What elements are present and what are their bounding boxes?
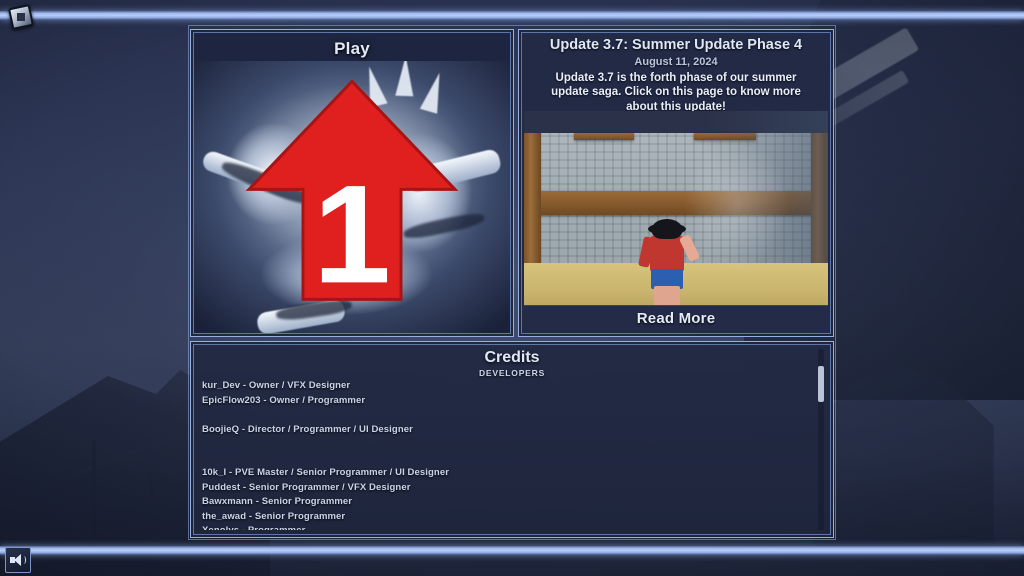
roblox-logo-icon[interactable]	[3, 0, 39, 35]
credits-line: kur_Dev - Owner / VFX Designer	[202, 379, 806, 394]
play-panel[interactable]: 1 Play	[190, 29, 514, 337]
speaker-wave	[22, 556, 26, 564]
credits-line: 10k_I - PVE Master / Senior Programmer /…	[202, 466, 806, 481]
roblox-logo-inner-square	[17, 13, 25, 21]
credits-title: Credits	[194, 349, 830, 367]
credits-line: EpicFlow203 - Owner / Programmer	[202, 394, 806, 409]
update-thumbnail	[524, 111, 828, 311]
speaker-icon[interactable]	[5, 547, 31, 573]
play-panel-artwork: 1	[194, 61, 510, 333]
credits-line: BoojieQ - Director / Programmer / UI Des…	[202, 423, 806, 438]
credits-spacer	[202, 437, 806, 452]
game-menu-screen: 1 Play Update 3.7: Summer Update Phase 4…	[0, 0, 1024, 576]
bottom-rail	[0, 546, 1024, 555]
update-description: Update 3.7 is the forth phase of our sum…	[532, 71, 820, 114]
read-more-button[interactable]: Read More	[524, 305, 828, 331]
play-panel-inner: 1 Play	[193, 32, 511, 334]
credits-spacer	[202, 452, 806, 467]
credits-list: kur_Dev - Owner / VFX DesignerEpicFlow20…	[202, 379, 806, 530]
play-panel-title: Play	[194, 39, 510, 59]
update-title: Update 3.7: Summer Update Phase 4	[532, 38, 820, 54]
credits-line: Bawxmann - Senior Programmer	[202, 495, 806, 510]
credits-subtitle: DEVELOPERS	[194, 368, 830, 378]
credits-panel-inner: Credits DEVELOPERS kur_Dev - Owner / VFX…	[193, 344, 831, 535]
thumbnail-character	[647, 219, 687, 309]
up-arrow-icon: 1	[245, 77, 459, 307]
roblox-logo-box	[8, 4, 34, 30]
credits-panel: Credits DEVELOPERS kur_Dev - Owner / VFX…	[190, 341, 834, 538]
character-hair	[652, 219, 682, 239]
credits-header: Credits DEVELOPERS	[194, 349, 830, 378]
speaker-glyph	[10, 554, 26, 566]
credits-spacer	[202, 408, 806, 423]
speaker-cone	[14, 554, 21, 566]
update-header: Update 3.7: Summer Update Phase 4 August…	[522, 33, 830, 118]
credits-line: the_awad - Senior Programmer	[202, 510, 806, 525]
credits-line: Xenolys - Programmer	[202, 524, 806, 530]
update-panel[interactable]: Update 3.7: Summer Update Phase 4 August…	[518, 29, 834, 337]
credits-line: Puddest - Senior Programmer / VFX Design…	[202, 481, 806, 496]
update-date: August 11, 2024	[532, 56, 820, 68]
top-rail	[0, 11, 1024, 20]
thumbnail-top-beam-left	[574, 133, 634, 140]
character-torso	[650, 236, 684, 272]
update-panel-inner: Update 3.7: Summer Update Phase 4 August…	[521, 32, 831, 334]
play-arrow-number: 1	[313, 155, 391, 307]
